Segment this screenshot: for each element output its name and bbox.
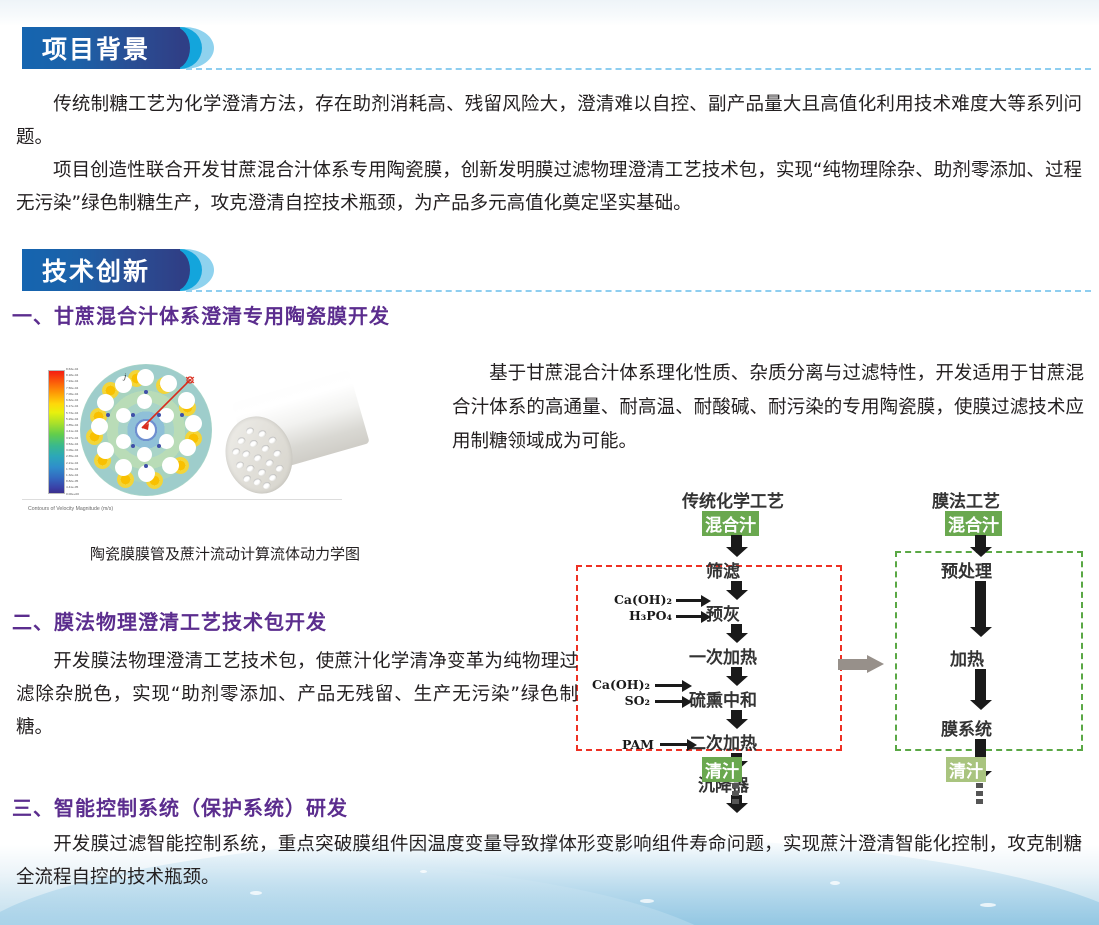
background-sparkle [980, 903, 996, 907]
flow-arrow [731, 667, 742, 677]
ceramic-membrane-tube-image [212, 380, 362, 500]
reagent-arrow [660, 743, 688, 746]
reagent-group-3: PAM [598, 737, 654, 752]
cfd-colorbar [48, 370, 65, 494]
flow-node-left-1: 筛滤 [706, 557, 740, 582]
flow-arrow [731, 710, 742, 720]
reagent-arrow [655, 700, 683, 703]
flow-arrow [975, 669, 986, 701]
cfd-colorbar-tick: 4.41e-05 [66, 486, 112, 489]
flow-continuation-dots [732, 783, 739, 807]
cfd-colorbar-tick: 8.63e-04 [66, 368, 112, 371]
flow-node-right-4: 清汁 [946, 757, 986, 782]
reagent-label: Ca(OH)₂ [566, 677, 650, 693]
cfd-annotation-arrow [134, 376, 196, 434]
reagent-group-1: Ca(OH)₂ H₃PO₄ [594, 592, 672, 624]
flow-node-right-0: 混合汁 [945, 511, 1002, 536]
background-paragraph-1: 传统制糖工艺为化学澄清方法，存在助剂消耗高、残留风险大，澄清难以自控、副产品量大… [16, 88, 1082, 154]
background-paragraph-1-text: 传统制糖工艺为化学澄清方法，存在助剂消耗高、残留风险大，澄清难以自控、副产品量大… [16, 94, 1082, 148]
reagent-label: H₃PO₄ [594, 608, 672, 624]
flow-node-left-7: 清汁 [702, 757, 742, 782]
flow-node-left-0: 混合汁 [702, 511, 759, 536]
flow-node-right-1: 预处理 [941, 557, 992, 582]
process-flowchart: 传统化学工艺 混合汁 筛滤 预灰 一次加热 硫熏中和 二次加热 沉降器 Ca(O… [560, 487, 1099, 807]
banner-dash-line-1 [186, 68, 1091, 70]
flow-node-left-4: 硫熏中和 [689, 686, 757, 711]
reagent-arrow [676, 599, 702, 602]
cfd-colorbar-tick: 0.00e+00 [66, 493, 112, 496]
section-banner-1-label: 项目背景 [22, 27, 180, 69]
subsection-body-1: 基于甘蔗混合汁体系理化性质、杂质分离与过滤特性，开发适用于甘蔗混合汁体系的高通量… [452, 357, 1084, 459]
flow-node-left-2: 预灰 [706, 600, 740, 625]
subsection-body-1-text: 基于甘蔗混合汁体系理化性质、杂质分离与过滤特性，开发适用于甘蔗混合汁体系的高通量… [452, 363, 1084, 452]
banner-dash-line-2 [186, 290, 1091, 292]
flow-arrow [731, 624, 742, 634]
reagent-label: PAM [598, 737, 654, 752]
reagent-label: SO₂ [566, 693, 650, 709]
flow-node-left-3: 一次加热 [689, 643, 757, 668]
section-banner-2: 技术创新 [22, 249, 180, 291]
subsection-body-3: 开发膜过滤智能控制系统，重点突破膜组件因温度变量导致撑体形变影响组件寿命问题，实… [16, 828, 1082, 894]
background-paragraph-2: 项目创造性联合开发甘蔗混合汁体系专用陶瓷膜，创新发明膜过滤物理澄清工艺技术包，实… [16, 154, 1082, 220]
reagent-label: Ca(OH)₂ [594, 592, 672, 608]
section-banner-2-label: 技术创新 [22, 249, 180, 291]
flow-continuation-dots [976, 783, 983, 807]
subsection-body-2-text: 开发膜法物理澄清工艺技术包，使蔗汁化学清净变革为纯物理过滤除杂脱色，实现“助剂零… [16, 651, 578, 738]
flow-arrow [731, 581, 742, 591]
cfd-figure-caption: 陶瓷膜膜管及蔗汁流动计算流体动力学图 [80, 543, 370, 564]
traditional-process-title: 传统化学工艺 [682, 487, 784, 512]
subsection-heading-3: 三、智能控制系统（保护系统）研发 [12, 792, 348, 821]
reagent-arrow [676, 615, 702, 618]
subsection-heading-1: 一、甘蔗混合汁体系澄清专用陶瓷膜开发 [12, 300, 390, 329]
background-paragraph-2-text: 项目创造性联合开发甘蔗混合汁体系专用陶瓷膜，创新发明膜过滤物理澄清工艺技术包，实… [16, 160, 1082, 214]
reagent-arrow [655, 684, 683, 687]
background-top-gradient [0, 0, 1099, 26]
right-arrow-icon [838, 655, 884, 673]
flow-node-left-5: 二次加热 [689, 729, 757, 754]
flow-arrow [975, 535, 986, 548]
cfd-colorbar-label: Contours of Velocity Magnitude (m/s) [28, 506, 113, 512]
flow-node-right-3: 膜系统 [941, 715, 992, 740]
flow-node-right-2: 加热 [950, 645, 984, 670]
section-banner-1: 项目背景 [22, 27, 180, 69]
subsection-body-3-text: 开发膜过滤智能控制系统，重点突破膜组件因温度变量导致撑体形变影响组件寿命问题，实… [16, 834, 1082, 888]
cfd-annotation-label: j [124, 373, 126, 381]
flow-arrow [731, 535, 742, 548]
subsection-body-2: 开发膜法物理澄清工艺技术包，使蔗汁化学清净变革为纯物理过滤除杂脱色，实现“助剂零… [16, 645, 578, 744]
reagent-group-2: Ca(OH)₂ SO₂ [566, 677, 650, 709]
flow-arrow [975, 581, 986, 628]
background-sparkle [640, 899, 654, 903]
membrane-process-title: 膜法工艺 [932, 487, 1000, 512]
slide-page: 项目背景 传统制糖工艺为化学澄清方法，存在助剂消耗高、残留风险大，澄清难以自控、… [0, 0, 1099, 925]
subsection-heading-2: 二、膜法物理澄清工艺技术包开发 [12, 606, 327, 635]
